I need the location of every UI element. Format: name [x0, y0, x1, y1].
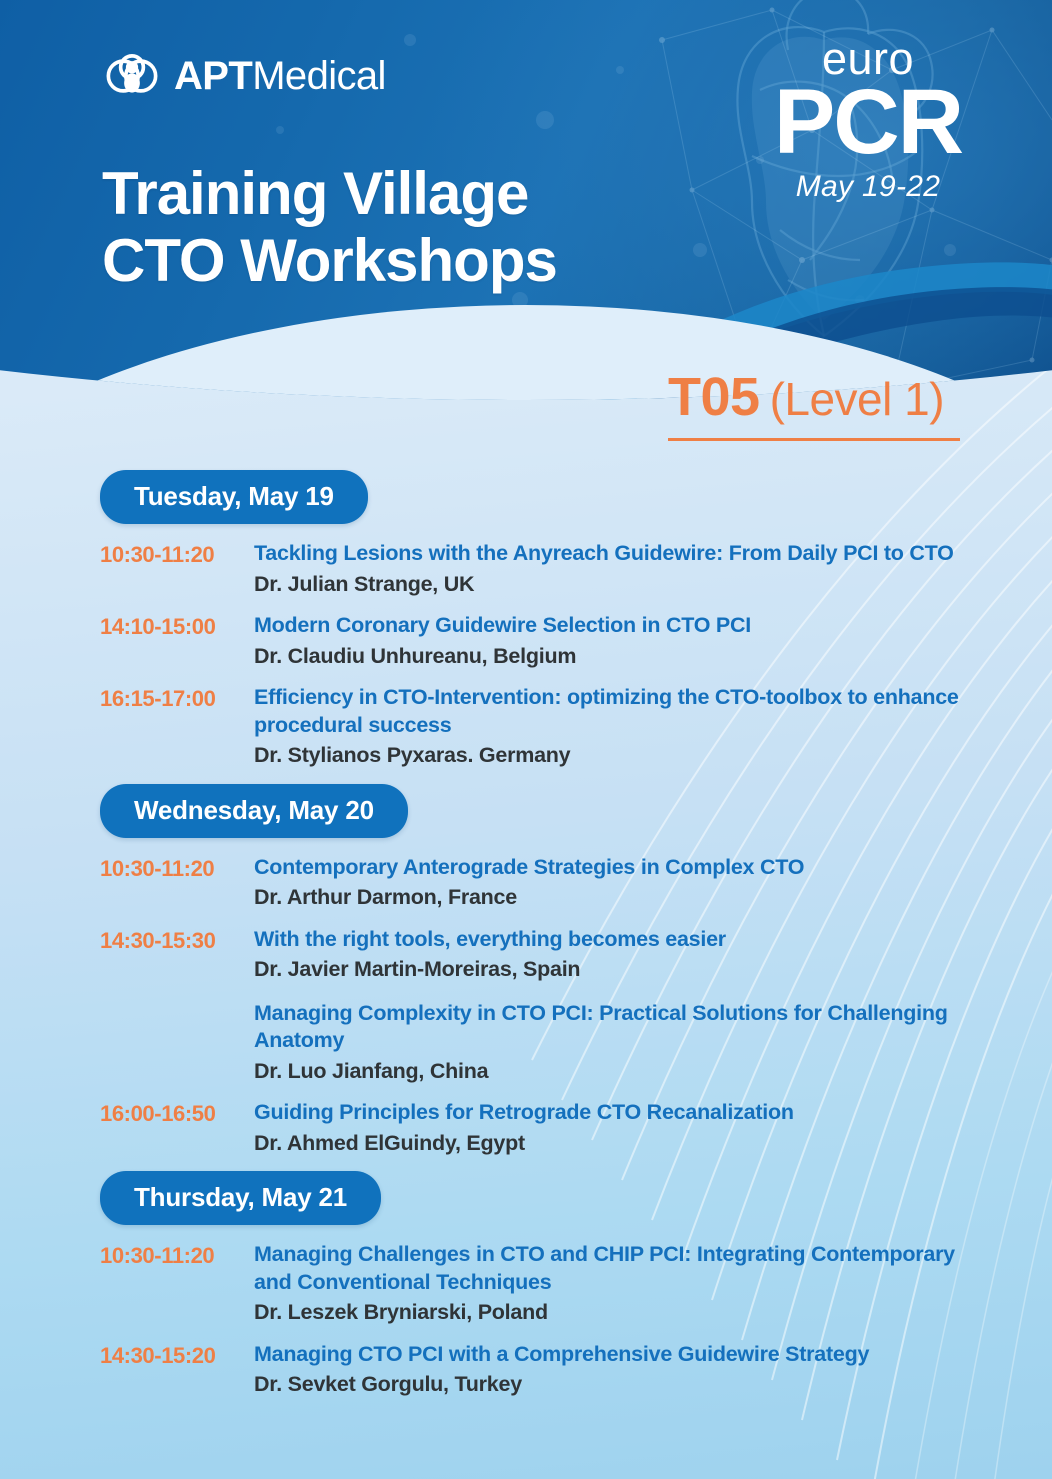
session-row: 10:30-11:20Tackling Lesions with the Any… [0, 540, 1052, 598]
session-time: 14:10-15:00 [100, 612, 250, 642]
session-speaker: Dr. Leszek Bryniarski, Poland [254, 1299, 992, 1327]
session-time: 14:30-15:30 [100, 926, 250, 956]
session-time: 10:30-11:20 [100, 540, 250, 570]
session-body: Modern Coronary Guidewire Selection in C… [250, 612, 992, 670]
session-title: Modern Coronary Guidewire Selection in C… [254, 612, 992, 640]
page-title: Training Village CTO Workshops [102, 160, 557, 294]
session-row: 14:30-15:30With the right tools, everyth… [0, 926, 1052, 1086]
session-body: With the right tools, everything becomes… [250, 926, 992, 1086]
session-body: Tackling Lesions with the Anyreach Guide… [250, 540, 992, 598]
session-title: Efficiency in CTO-Intervention: optimizi… [254, 684, 992, 739]
session-body: Managing Challenges in CTO and CHIP PCI:… [250, 1241, 992, 1327]
session-row: 10:30-11:20Managing Challenges in CTO an… [0, 1241, 1052, 1327]
session-title: Managing CTO PCI with a Comprehensive Gu… [254, 1341, 992, 1369]
session-extra: Managing Complexity in CTO PCI: Practica… [254, 1000, 992, 1086]
session-title: Tackling Lesions with the Anyreach Guide… [254, 540, 992, 568]
session-speaker: Dr. Julian Strange, UK [254, 571, 992, 599]
session-title: Managing Challenges in CTO and CHIP PCI:… [254, 1241, 992, 1296]
session-code-underline [668, 438, 960, 441]
session-speaker: Dr. Arthur Darmon, France [254, 884, 992, 912]
session-extra-speaker: Dr. Luo Jianfang, China [254, 1058, 992, 1086]
brand-name-light: Medical [252, 54, 386, 98]
session-speaker: Dr. Claudiu Unhureanu, Belgium [254, 643, 992, 671]
apt-medical-logo: APTMedical [104, 48, 386, 104]
session-list: 10:30-11:20Contemporary Anterograde Stra… [0, 854, 1052, 1158]
session-list: 10:30-11:20Tackling Lesions with the Any… [0, 540, 1052, 770]
session-code-block: T05(Level 1) [664, 370, 960, 441]
session-body: Contemporary Anterograde Strategies in C… [250, 854, 992, 912]
session-time: 10:30-11:20 [100, 854, 250, 884]
day-label-pill: Tuesday, May 19 [100, 470, 368, 524]
session-code-level: (Level 1) [770, 373, 944, 425]
session-time: 16:15-17:00 [100, 684, 250, 714]
session-time: 14:30-15:20 [100, 1341, 250, 1371]
session-body: Efficiency in CTO-Intervention: optimizi… [250, 684, 992, 770]
session-row: 14:30-15:20Managing CTO PCI with a Compr… [0, 1341, 1052, 1399]
session-speaker: Dr. Stylianos Pyxaras. Germany [254, 742, 992, 770]
schedule-list: Tuesday, May 1910:30-11:20Tackling Lesio… [0, 470, 1052, 1413]
session-title: Guiding Principles for Retrograde CTO Re… [254, 1099, 992, 1127]
session-title: With the right tools, everything becomes… [254, 926, 992, 954]
day-group: Thursday, May 2110:30-11:20Managing Chal… [0, 1171, 1052, 1399]
poster-root: APTMedical euro PCR May 19-22 Training V… [0, 0, 1052, 1479]
session-list: 10:30-11:20Managing Challenges in CTO an… [0, 1241, 1052, 1399]
europcr-pcr-text: PCR [758, 83, 978, 162]
session-time: 16:00-16:50 [100, 1099, 250, 1129]
session-code-id: T05 [668, 367, 760, 427]
europcr-dates: May 19-22 [758, 170, 978, 204]
day-label-pill: Thursday, May 21 [100, 1171, 381, 1225]
session-row: 14:10-15:00Modern Coronary Guidewire Sel… [0, 612, 1052, 670]
europcr-logo: euro PCR May 19-22 [758, 38, 978, 204]
session-speaker: Dr. Sevket Gorgulu, Turkey [254, 1371, 992, 1399]
session-row: 10:30-11:20Contemporary Anterograde Stra… [0, 854, 1052, 912]
apt-medical-logo-icon [104, 48, 160, 104]
session-title: Contemporary Anterograde Strategies in C… [254, 854, 992, 882]
session-speaker: Dr. Javier Martin-Moreiras, Spain [254, 956, 992, 984]
apt-medical-wordmark: APTMedical [174, 56, 386, 96]
session-row: 16:15-17:00Efficiency in CTO-Interventio… [0, 684, 1052, 770]
session-body: Managing CTO PCI with a Comprehensive Gu… [250, 1341, 992, 1399]
poster-header: APTMedical euro PCR May 19-22 Training V… [0, 0, 1052, 400]
day-label-pill: Wednesday, May 20 [100, 784, 408, 838]
session-extra-title: Managing Complexity in CTO PCI: Practica… [254, 1000, 992, 1055]
session-time: 10:30-11:20 [100, 1241, 250, 1271]
session-speaker: Dr. Ahmed ElGuindy, Egypt [254, 1130, 992, 1158]
session-body: Guiding Principles for Retrograde CTO Re… [250, 1099, 992, 1157]
brand-name-bold: APT [174, 54, 252, 98]
session-row: 16:00-16:50Guiding Principles for Retrog… [0, 1099, 1052, 1157]
day-group: Wednesday, May 2010:30-11:20Contemporary… [0, 784, 1052, 1158]
day-group: Tuesday, May 1910:30-11:20Tackling Lesio… [0, 470, 1052, 770]
